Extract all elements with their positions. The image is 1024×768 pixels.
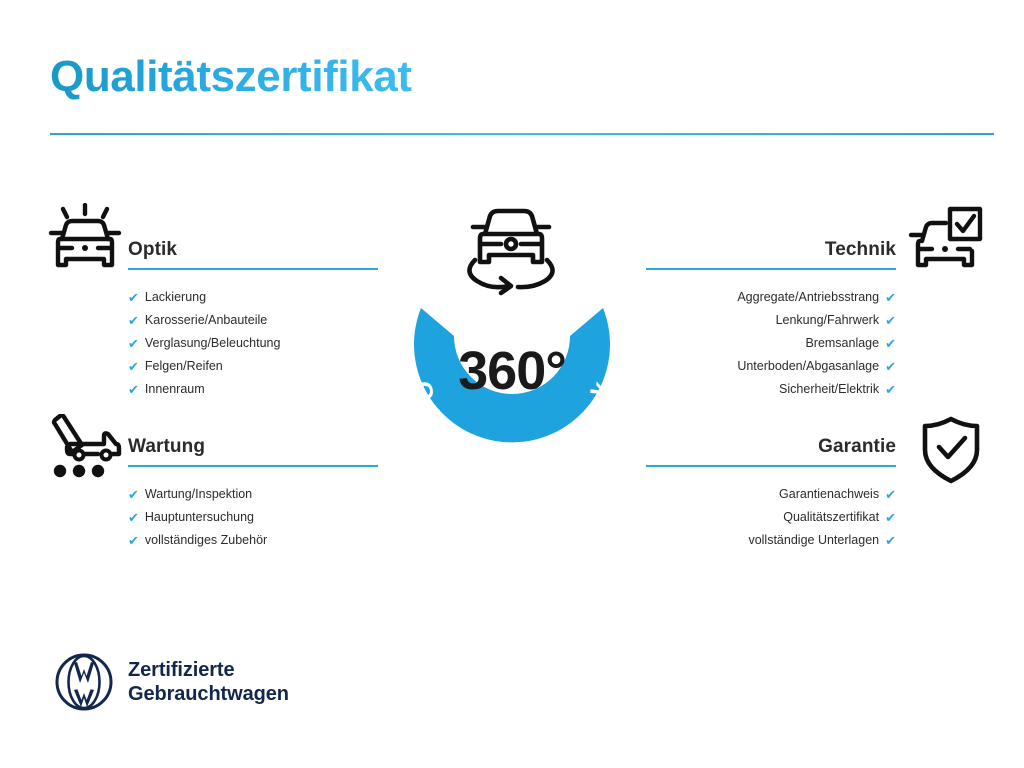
vw-wordmark-line2: Gebrauchtwagen bbox=[128, 682, 289, 706]
page-title: Qualitätszertifikat bbox=[50, 52, 412, 102]
car-shine-icon bbox=[46, 203, 124, 275]
list-item-label: Lenkung/Fahrwerk bbox=[776, 309, 880, 332]
section-divider-garantie bbox=[646, 465, 896, 467]
check-icon: ✔ bbox=[128, 511, 139, 524]
list-item: ✔Hauptuntersuchung bbox=[128, 506, 428, 529]
list-item-label: Verglasung/Beleuchtung bbox=[145, 332, 281, 355]
check-icon: ✔ bbox=[885, 360, 896, 373]
list-item-label: Aggregate/Antriebsstrang bbox=[737, 286, 879, 309]
check-icon: ✔ bbox=[128, 360, 139, 373]
list-item-label: Bremsanlage bbox=[805, 332, 879, 355]
list-item-label: Karosserie/Anbauteile bbox=[145, 309, 267, 332]
list-item-label: Wartung/Inspektion bbox=[145, 483, 252, 506]
vw-wordmark-line1: Zertifizierte bbox=[128, 658, 289, 682]
check-icon: ✔ bbox=[885, 337, 896, 350]
list-item: ✔vollständiges Zubehör bbox=[128, 529, 428, 552]
check-icon: ✔ bbox=[885, 534, 896, 547]
section-divider-technik bbox=[646, 268, 896, 270]
shield-check-icon bbox=[912, 414, 990, 486]
list-item-label: Lackierung bbox=[145, 286, 206, 309]
check-icon: ✔ bbox=[885, 291, 896, 304]
check-icon: ✔ bbox=[885, 383, 896, 396]
car-checkbox-icon bbox=[906, 203, 984, 275]
check-icon: ✔ bbox=[885, 511, 896, 524]
dipstick-car-oil-icon bbox=[46, 414, 124, 486]
check-icon: ✔ bbox=[128, 534, 139, 547]
car-front-rotate-icon bbox=[455, 200, 567, 296]
list-item-label: Hauptuntersuchung bbox=[145, 506, 254, 529]
check-icon: ✔ bbox=[128, 383, 139, 396]
title-divider bbox=[50, 133, 994, 135]
check-icon: ✔ bbox=[128, 488, 139, 501]
check-icon: ✔ bbox=[885, 314, 896, 327]
vw-roundel-icon bbox=[54, 652, 114, 712]
vw-wordmark: Zertifizierte Gebrauchtwagen bbox=[128, 658, 289, 707]
list-item-label: vollständiges Zubehör bbox=[145, 529, 267, 552]
check-icon: ✔ bbox=[128, 291, 139, 304]
badge-number: 360° bbox=[380, 340, 644, 402]
list-item-label: Felgen/Reifen bbox=[145, 355, 223, 378]
check-icon: ✔ bbox=[128, 337, 139, 350]
list-item: Qualitätszertifikat✔ bbox=[596, 506, 896, 529]
list-item-label: Innenraum bbox=[145, 378, 205, 401]
list-item-label: Qualitätszertifikat bbox=[783, 506, 879, 529]
list-item: vollständige Unterlagen✔ bbox=[596, 529, 896, 552]
list-item-label: Garantienachweis bbox=[779, 483, 879, 506]
list-item-label: Unterboden/Abgasanlage bbox=[737, 355, 879, 378]
check-icon: ✔ bbox=[128, 314, 139, 327]
section-divider-wartung bbox=[128, 465, 378, 467]
list-item-label: vollständige Unterlagen bbox=[748, 529, 879, 552]
check-icon: ✔ bbox=[885, 488, 896, 501]
section-divider-optik bbox=[128, 268, 378, 270]
vw-footer-logo: Zertifizierte Gebrauchtwagen bbox=[54, 652, 289, 712]
list-item-label: Sicherheit/Elektrik bbox=[779, 378, 879, 401]
certificate-page: Qualitätszertifikat Optik ✔Lackierung bbox=[0, 0, 1024, 768]
